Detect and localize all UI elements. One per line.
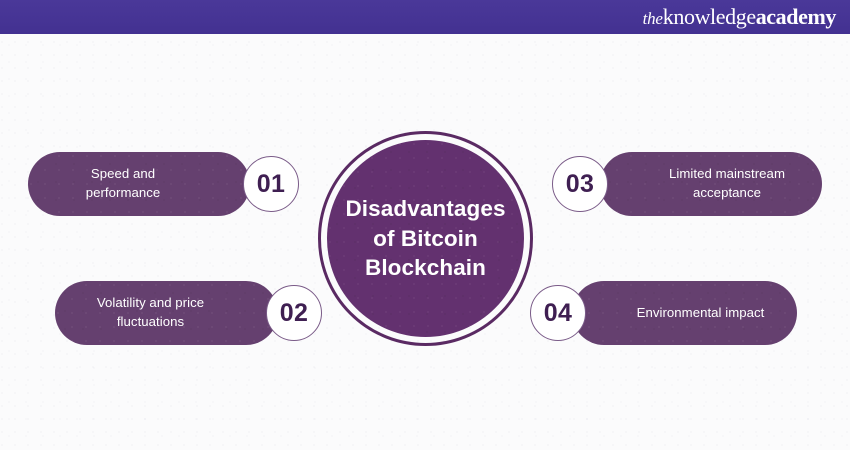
item-label-03-line-2: acceptance: [693, 185, 761, 200]
item-label-03: Limited mainstream acceptance: [646, 165, 808, 202]
brand-middle: knowledge: [663, 4, 756, 29]
item-label-01: Speed and performance: [42, 165, 204, 202]
item-badge-02[interactable]: 02: [266, 285, 322, 341]
item-label-04: Environmental impact: [618, 304, 783, 323]
item-badge-04[interactable]: 04: [530, 285, 586, 341]
item-label-02: Volatility and price fluctuations: [69, 294, 232, 331]
page-title: Disadvantages of Bitcoin Blockchain: [337, 194, 513, 283]
item-label-04-line-1: Environmental impact: [637, 305, 765, 320]
center-node: Disadvantages of Bitcoin Blockchain: [318, 131, 533, 346]
item-label-03-line-1: Limited mainstream: [669, 166, 785, 181]
center-title-line-3: Blockchain: [345, 253, 505, 283]
center-disc: Disadvantages of Bitcoin Blockchain: [327, 140, 524, 337]
item-label-01-line-2: performance: [86, 185, 161, 200]
item-label-02-line-2: fluctuations: [117, 314, 184, 329]
item-label-01-line-1: Speed and: [91, 166, 155, 181]
item-badge-01[interactable]: 01: [243, 156, 299, 212]
header-band: theknowledgeacademy: [0, 0, 850, 34]
brand-prefix: the: [643, 9, 663, 28]
center-title-line-2: of Bitcoin: [345, 224, 505, 254]
item-pill-01[interactable]: Speed and performance: [28, 152, 250, 216]
brand-logo: theknowledgeacademy: [643, 6, 836, 28]
item-pill-03[interactable]: Limited mainstream acceptance: [600, 152, 822, 216]
item-label-02-line-1: Volatility and price: [97, 295, 204, 310]
item-badge-03[interactable]: 03: [552, 156, 608, 212]
item-pill-02[interactable]: Volatility and price fluctuations: [55, 281, 278, 345]
brand-suffix: academy: [756, 4, 836, 29]
item-pill-04[interactable]: Environmental impact: [572, 281, 797, 345]
center-title-line-1: Disadvantages: [345, 194, 505, 224]
infographic-canvas: theknowledgeacademy Disadvantages of Bit…: [0, 0, 850, 450]
